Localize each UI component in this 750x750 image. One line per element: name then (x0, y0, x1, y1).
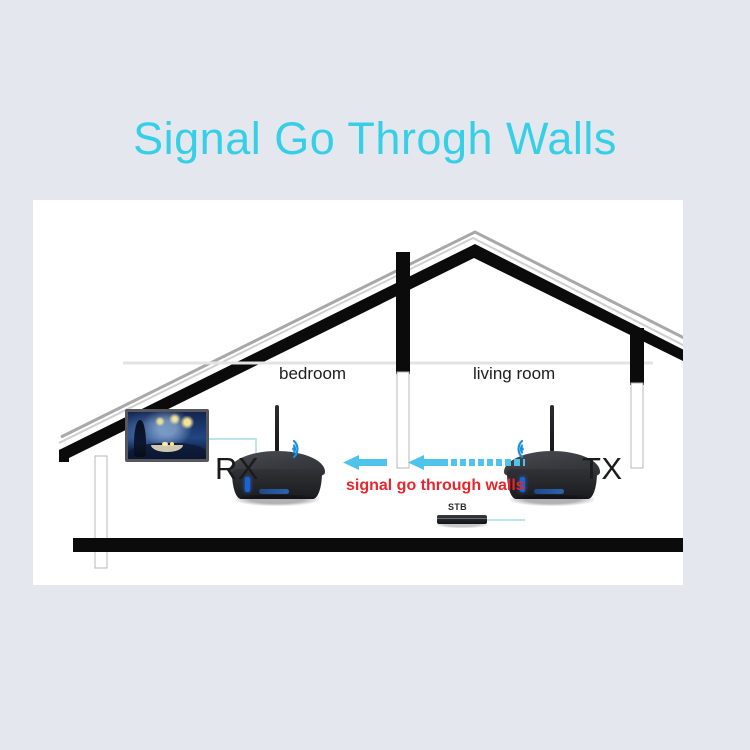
signal-path (33, 200, 683, 585)
page-title: Signal Go Throgh Walls (0, 113, 750, 165)
stb-shadow (437, 524, 487, 528)
stb-label: STB (448, 502, 467, 512)
diagram-panel: bedroom living room (33, 200, 683, 585)
screenshot-root: Signal Go Throgh Walls (0, 0, 750, 750)
signal-arrow-left (343, 455, 387, 470)
stb-device (437, 515, 487, 524)
signal-caption: signal go through walls (346, 477, 525, 495)
signal-arrow-right (408, 455, 448, 470)
stb-seam (437, 518, 487, 519)
